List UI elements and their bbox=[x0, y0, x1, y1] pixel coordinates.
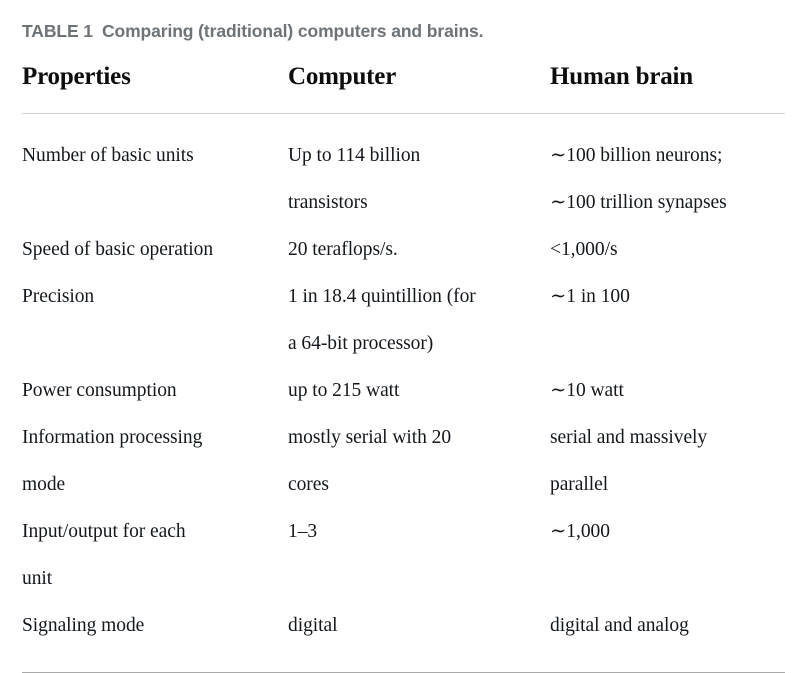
cell-property: Number of basic units bbox=[22, 132, 288, 179]
cell-property: Information processing mode bbox=[22, 414, 288, 508]
table-header-row: Properties Computer Human brain bbox=[22, 62, 785, 113]
table-caption-text: Comparing (traditional) computers and br… bbox=[102, 21, 484, 41]
cell-computer: 1 in 18.4 quintillion (for a 64-bit proc… bbox=[288, 273, 550, 367]
table-row: Information processing mode mostly seria… bbox=[22, 414, 785, 508]
cell-computer: up to 215 watt bbox=[288, 367, 550, 414]
table-caption-label: TABLE 1 bbox=[22, 21, 93, 41]
table-row: Speed of basic operation 20 teraflops/s.… bbox=[22, 226, 785, 273]
column-header-properties: Properties bbox=[22, 62, 288, 92]
cell-human-brain: <1,000/s bbox=[550, 226, 785, 273]
cell-computer: 20 teraflops/s. bbox=[288, 226, 550, 273]
table-row: Precision 1 in 18.4 quintillion (for a 6… bbox=[22, 273, 785, 367]
table-page: TABLE 1Comparing (traditional) computers… bbox=[0, 0, 800, 637]
cell-human-brain: digital and analog bbox=[550, 602, 785, 649]
comparison-table: Properties Computer Human brain Number o… bbox=[22, 62, 785, 673]
cell-property: Input/output for each unit bbox=[22, 508, 288, 602]
cell-computer: 1–3 bbox=[288, 508, 550, 555]
cell-human-brain: ∼1 in 100 bbox=[550, 273, 785, 320]
cell-computer: Up to 114 billion transistors bbox=[288, 132, 550, 226]
table-row: Input/output for each unit 1–3 ∼1,000 bbox=[22, 508, 785, 602]
table-caption: TABLE 1Comparing (traditional) computers… bbox=[22, 20, 782, 42]
cell-computer: mostly serial with 20 cores bbox=[288, 414, 550, 508]
cell-property: Speed of basic operation bbox=[22, 226, 288, 273]
cell-property: Power consumption bbox=[22, 367, 288, 414]
cell-human-brain: ∼10 watt bbox=[550, 367, 785, 414]
cell-property: Precision bbox=[22, 273, 288, 320]
cell-human-brain: serial and massively parallel bbox=[550, 414, 785, 508]
cell-property: Signaling mode bbox=[22, 602, 288, 649]
footer-divider-wrap bbox=[22, 649, 785, 673]
table-row: Number of basic units Up to 114 billion … bbox=[22, 132, 785, 226]
cell-human-brain: ∼100 billion neurons; ∼100 trillion syna… bbox=[550, 132, 785, 226]
table-body: Number of basic units Up to 114 billion … bbox=[22, 114, 785, 649]
column-header-human-brain: Human brain bbox=[550, 62, 785, 92]
column-header-computer: Computer bbox=[288, 62, 550, 92]
cell-human-brain: ∼1,000 bbox=[550, 508, 785, 555]
table-row: Power consumption up to 215 watt ∼10 wat… bbox=[22, 367, 785, 414]
table-row: Signaling mode digital digital and analo… bbox=[22, 602, 785, 649]
cell-computer: digital bbox=[288, 602, 550, 649]
